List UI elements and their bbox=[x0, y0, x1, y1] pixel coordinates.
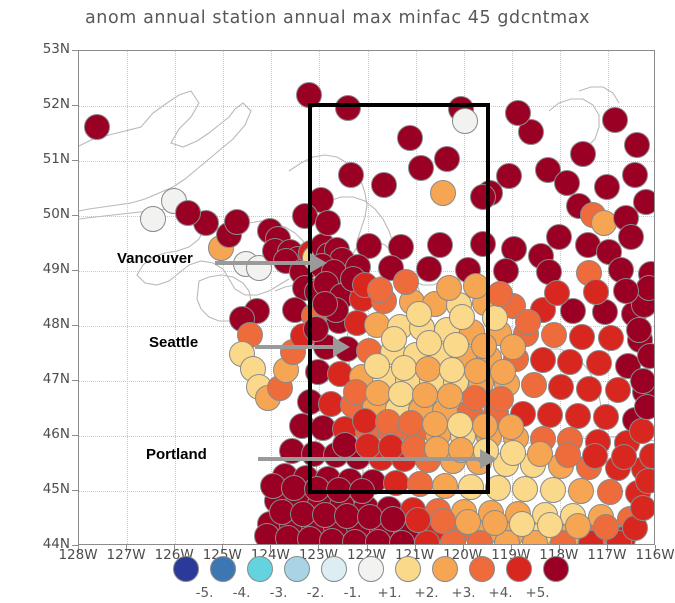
station-marker[interactable] bbox=[624, 132, 650, 158]
station-marker[interactable] bbox=[618, 224, 644, 250]
station-marker[interactable] bbox=[569, 324, 595, 350]
city-label-vancouver: Vancouver bbox=[117, 250, 193, 267]
station-marker[interactable] bbox=[636, 275, 655, 301]
y-tick-label: 47N bbox=[24, 371, 70, 387]
station-marker[interactable] bbox=[630, 495, 655, 521]
station-marker[interactable] bbox=[430, 508, 456, 534]
colorbar-swatch[interactable] bbox=[395, 556, 421, 582]
station-marker[interactable] bbox=[635, 468, 655, 494]
annotation-arrow-head bbox=[333, 337, 350, 357]
station-marker[interactable] bbox=[630, 368, 655, 394]
colorbar-swatch[interactable] bbox=[358, 556, 384, 582]
annotation-arrow-line bbox=[255, 345, 333, 349]
station-marker[interactable] bbox=[548, 374, 574, 400]
y-tick-label: 50N bbox=[24, 206, 70, 222]
colorbar-tick-label: -4. bbox=[222, 585, 262, 601]
colorbar-tick-label: +4. bbox=[481, 585, 521, 601]
colorbar-swatch[interactable] bbox=[247, 556, 273, 582]
station-marker[interactable] bbox=[380, 506, 406, 532]
station-marker[interactable] bbox=[626, 317, 652, 343]
colorbar-swatch[interactable] bbox=[543, 556, 569, 582]
station-marker[interactable] bbox=[613, 278, 639, 304]
station-marker[interactable] bbox=[639, 443, 655, 469]
station-marker[interactable] bbox=[576, 376, 602, 402]
colorbar-tick-label: +2. bbox=[407, 585, 447, 601]
station-marker[interactable] bbox=[634, 394, 655, 420]
station-marker[interactable] bbox=[515, 309, 541, 335]
station-marker[interactable] bbox=[555, 442, 581, 468]
y-tick-label: 49N bbox=[24, 261, 70, 277]
station-marker[interactable] bbox=[405, 507, 431, 533]
page-title: anom annual station annual max minfac 45… bbox=[0, 8, 675, 28]
station-marker[interactable] bbox=[175, 200, 201, 226]
station-marker[interactable] bbox=[554, 170, 580, 196]
colorbar-tick-label: -5. bbox=[185, 585, 225, 601]
colorbar-tick-label: +3. bbox=[444, 585, 484, 601]
y-tick-label: 53N bbox=[24, 41, 70, 57]
annotation-arrow-line bbox=[215, 261, 310, 265]
station-marker[interactable] bbox=[597, 479, 623, 505]
station-marker[interactable] bbox=[512, 476, 538, 502]
colorbar-swatch[interactable] bbox=[321, 556, 347, 582]
annotation-arrow-head bbox=[480, 449, 497, 469]
station-marker[interactable] bbox=[602, 107, 628, 133]
station-marker[interactable] bbox=[605, 377, 631, 403]
colorbar-swatch[interactable] bbox=[469, 556, 495, 582]
y-tick-label: 45N bbox=[24, 481, 70, 497]
annotation-arrow-head bbox=[310, 253, 327, 273]
station-marker[interactable] bbox=[530, 347, 556, 373]
station-marker[interactable] bbox=[488, 386, 514, 412]
y-tick-label: 48N bbox=[24, 316, 70, 332]
colorbar-swatch[interactable] bbox=[284, 556, 310, 582]
anomaly-colorbar[interactable]: -5.-4.-3.-2.-1.+1.+2.+3.+4.+5. bbox=[0, 556, 675, 602]
colorbar-tick-label: +5. bbox=[518, 585, 558, 601]
station-marker[interactable] bbox=[505, 100, 531, 126]
city-label-portland: Portland bbox=[146, 446, 207, 463]
y-tick-label: 52N bbox=[24, 96, 70, 112]
colorbar-tick-label: +1. bbox=[370, 585, 410, 601]
station-marker[interactable] bbox=[500, 440, 526, 466]
station-marker[interactable] bbox=[527, 441, 553, 467]
station-marker[interactable] bbox=[493, 258, 519, 284]
colorbar-swatch[interactable] bbox=[432, 556, 458, 582]
station-marker[interactable] bbox=[637, 343, 655, 369]
colorbar-tick-label: -3. bbox=[259, 585, 299, 601]
y-tick-label: 51N bbox=[24, 151, 70, 167]
station-marker[interactable] bbox=[611, 444, 637, 470]
station-marker[interactable] bbox=[540, 477, 566, 503]
station-marker[interactable] bbox=[544, 280, 570, 306]
colorbar-swatch[interactable] bbox=[506, 556, 532, 582]
station-marker[interactable] bbox=[629, 418, 655, 444]
city-label-seattle: Seattle bbox=[149, 334, 198, 351]
annotation-arrow-line bbox=[258, 457, 480, 461]
station-marker[interactable] bbox=[498, 414, 524, 440]
station-marker[interactable] bbox=[568, 478, 594, 504]
study-region-box bbox=[308, 103, 489, 494]
station-marker[interactable] bbox=[541, 322, 567, 348]
station-marker[interactable] bbox=[224, 209, 250, 235]
colorbar-tick-label: -1. bbox=[333, 585, 373, 601]
colorbar-swatch[interactable] bbox=[210, 556, 236, 582]
station-marker[interactable] bbox=[84, 114, 110, 140]
station-marker[interactable] bbox=[622, 162, 648, 188]
colorbar-swatch[interactable] bbox=[173, 556, 199, 582]
y-tick-label: 46N bbox=[24, 426, 70, 442]
station-marker[interactable] bbox=[598, 325, 624, 351]
map-plot-area[interactable] bbox=[78, 50, 655, 545]
station-marker[interactable] bbox=[500, 334, 526, 360]
colorbar-tick-label: -2. bbox=[296, 585, 336, 601]
